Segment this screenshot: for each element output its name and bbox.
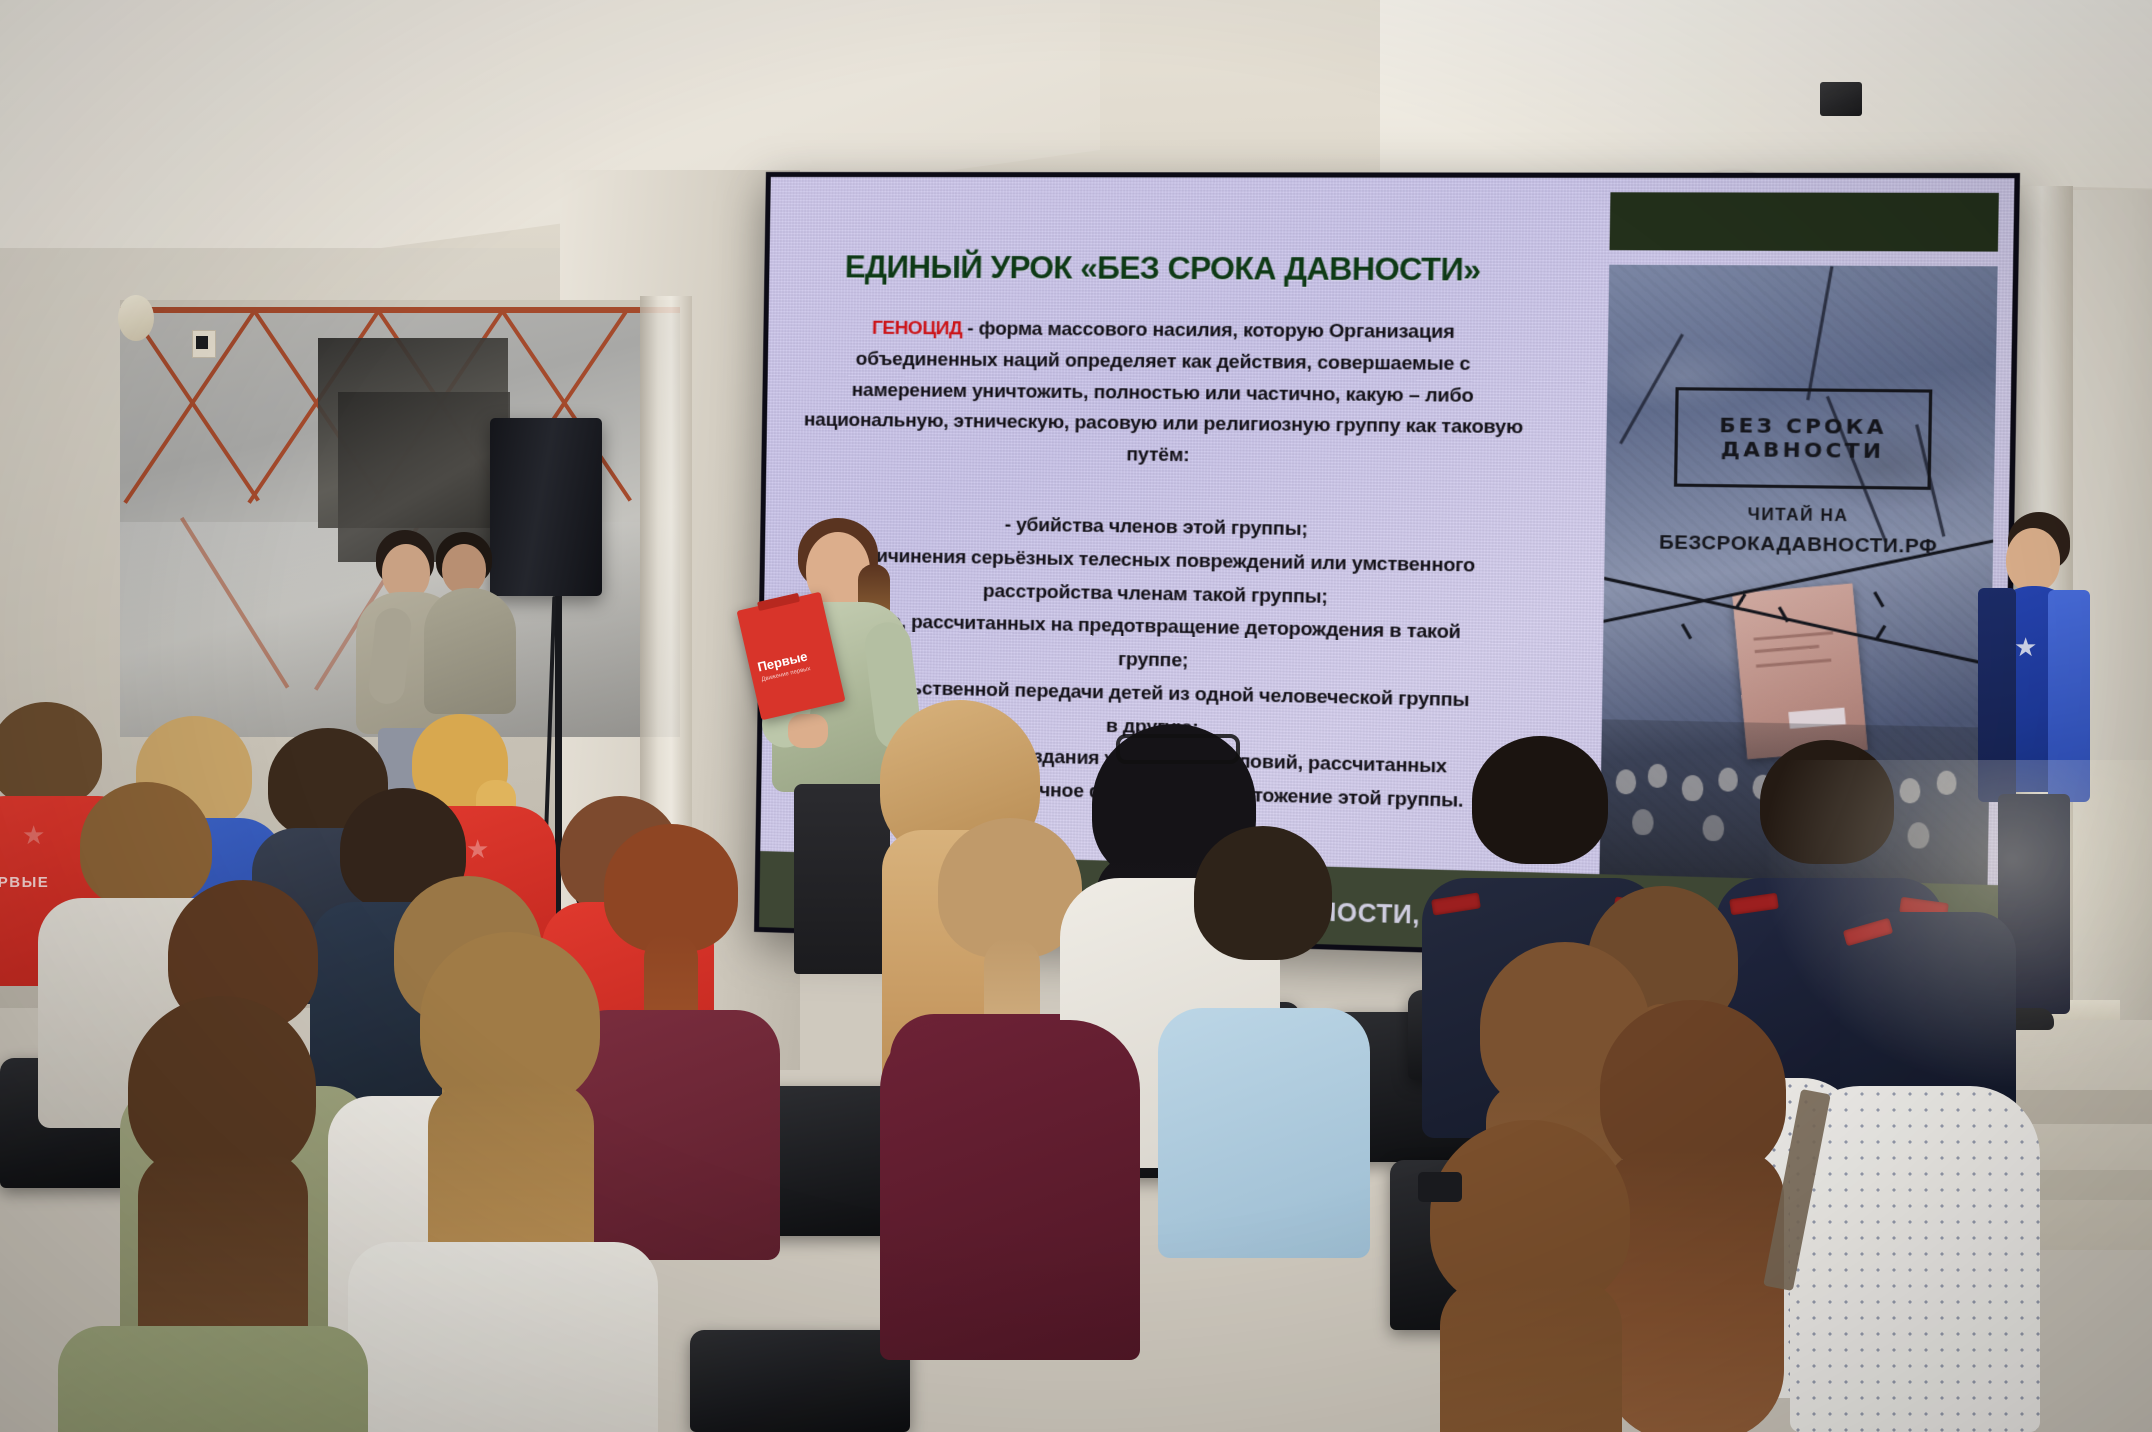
presenter-legs bbox=[794, 784, 890, 974]
hair bbox=[1194, 826, 1332, 960]
first-movement-star-icon: ★ bbox=[22, 822, 45, 848]
jacket-left bbox=[1978, 588, 2016, 802]
long-hair bbox=[1604, 1150, 1784, 1432]
photo-scene: ЕДИНЫЙ УРОК «БЕЗ СРОКА ДАВНОСТИ» ГЕНОЦИД… bbox=[0, 0, 2152, 1432]
slide-definition: ГЕНОЦИД - форма массового насилия, котор… bbox=[798, 313, 1530, 476]
wall-sconce-icon bbox=[118, 295, 154, 341]
eyeglasses-icon bbox=[1116, 734, 1240, 764]
long-hair bbox=[1440, 1280, 1622, 1432]
chair[interactable] bbox=[690, 1330, 910, 1432]
hair bbox=[604, 824, 738, 952]
loudspeaker bbox=[490, 418, 602, 596]
hair bbox=[80, 782, 212, 908]
tshirt-logo: ПЕРВЫЕ bbox=[0, 874, 49, 891]
torso bbox=[58, 1326, 368, 1432]
hair bbox=[0, 702, 102, 806]
head bbox=[2006, 528, 2060, 592]
torso-hoodie bbox=[1158, 1008, 1370, 1258]
wall-switch-plate bbox=[196, 336, 208, 349]
presenter-hand bbox=[788, 714, 828, 748]
torso bbox=[348, 1242, 658, 1432]
poster-logo-line2: ДАВНОСТИ bbox=[1721, 437, 1885, 463]
torso bbox=[424, 588, 516, 714]
slide-definition-text: - форма массового насилия, которую Орган… bbox=[804, 318, 1523, 466]
ceiling-speaker-icon bbox=[1820, 82, 1862, 116]
slide-header-bar bbox=[1610, 192, 1999, 251]
poster-logo-box: БЕЗ СРОКА ДАВНОСТИ bbox=[1674, 387, 1932, 490]
slide-title: ЕДИНЫЙ УРОК «БЕЗ СРОКА ДАВНОСТИ» bbox=[809, 249, 1518, 289]
head bbox=[442, 544, 486, 594]
slide-keyword: ГЕНОЦИД bbox=[872, 318, 963, 340]
tripod-pole bbox=[555, 596, 562, 866]
phone-icon[interactable] bbox=[1418, 1172, 1462, 1202]
jacket-right bbox=[2048, 590, 2090, 802]
hair bbox=[1760, 740, 1894, 864]
comet-star-logo-icon: ★ bbox=[2014, 634, 2037, 660]
hair bbox=[1472, 736, 1608, 864]
first-movement-star-icon: ★ bbox=[466, 836, 489, 862]
torso-dotted-blouse bbox=[1790, 1086, 2040, 1432]
poster-logo-line1: БЕЗ СРОКА bbox=[1719, 414, 1887, 440]
torso bbox=[880, 1020, 1140, 1360]
